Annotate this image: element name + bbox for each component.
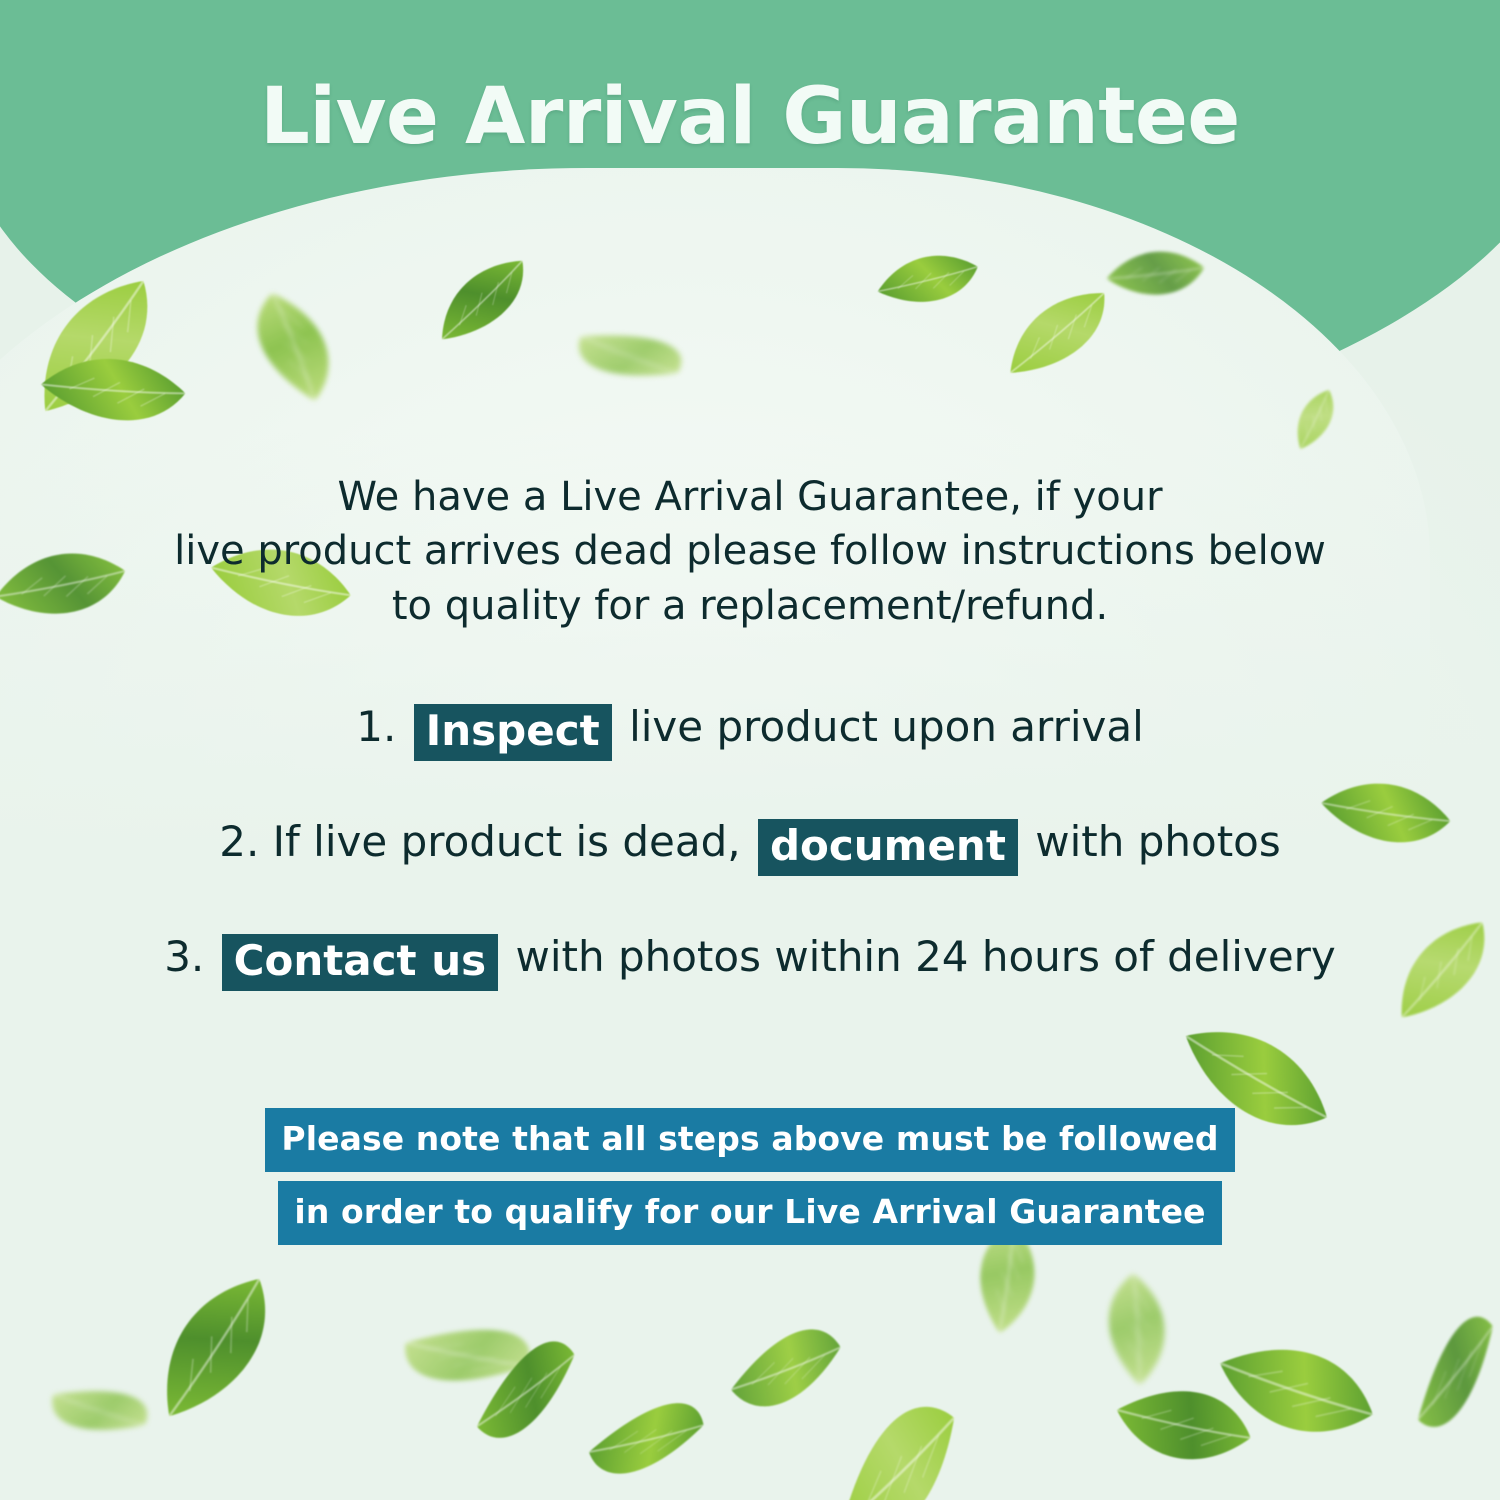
step-item-3: 3. Contact us with photos within 24 hour… (60, 930, 1440, 987)
footer-note-line-2: in order to qualify for our Live Arrival… (278, 1181, 1221, 1245)
intro-line-1: We have a Live Arrival Guarantee, if you… (110, 470, 1390, 524)
step-highlight-inspect: Inspect (414, 704, 612, 761)
step-number-2: 2. (219, 817, 259, 866)
live-arrival-guarantee-poster: Live Arrival Guarantee We have a Live Ar… (0, 0, 1500, 1500)
page-title: Live Arrival Guarantee (260, 78, 1240, 156)
intro-line-3: to quality for a replacement/refund. (110, 579, 1390, 633)
footer-note: Please note that all steps above must be… (0, 1108, 1500, 1254)
step-number-3: 3. (164, 932, 204, 981)
step-item-2: 2. If live product is dead, document wit… (60, 815, 1440, 872)
step-highlight-document: document (758, 819, 1018, 876)
step-text-before-2: If live product is dead, (273, 817, 741, 866)
step-text-after-2: with photos (1035, 817, 1280, 866)
step-number-1: 1. (356, 702, 396, 751)
step-text-after-3: with photos within 24 hours of delivery (516, 932, 1336, 981)
step-text-after-1: live product upon arrival (629, 702, 1144, 751)
intro-paragraph: We have a Live Arrival Guarantee, if you… (110, 470, 1390, 633)
footer-note-line-1: Please note that all steps above must be… (265, 1108, 1234, 1172)
step-item-1: 1. Inspect live product upon arrival (60, 700, 1440, 757)
step-highlight-contact-us: Contact us (222, 934, 499, 991)
header-title-container: Live Arrival Guarantee (0, 78, 1500, 156)
steps-list: 1. Inspect live product upon arrival 2. … (60, 700, 1440, 1045)
intro-line-2: live product arrives dead please follow … (110, 524, 1390, 578)
